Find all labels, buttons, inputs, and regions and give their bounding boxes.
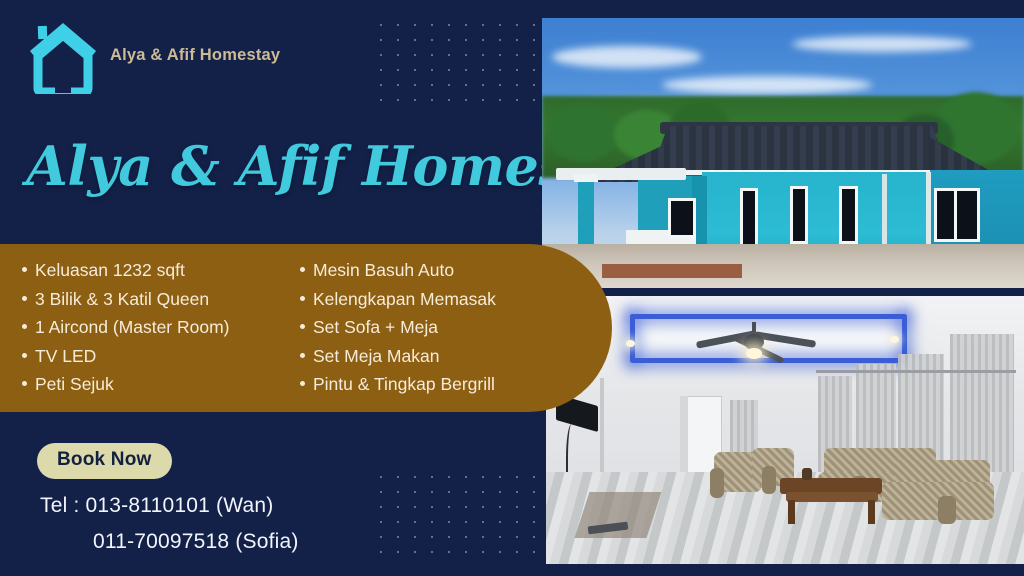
grid-dot bbox=[465, 84, 467, 86]
grid-dot bbox=[431, 536, 433, 538]
armchair-arm bbox=[762, 466, 776, 494]
grid-dot bbox=[414, 54, 416, 56]
grid-dot bbox=[431, 54, 433, 56]
coffee-table-apron bbox=[786, 492, 878, 502]
grid-dot bbox=[516, 24, 518, 26]
grid-dot bbox=[465, 491, 467, 493]
grid-dot bbox=[499, 506, 501, 508]
brand-logo-text: Alya & Afif Homestay bbox=[110, 46, 280, 65]
grid-dot bbox=[380, 99, 382, 101]
grid-dot bbox=[465, 69, 467, 71]
grid-dot bbox=[465, 521, 467, 523]
grid-dot bbox=[414, 99, 416, 101]
grid-dot bbox=[397, 491, 399, 493]
bullet-icon bbox=[22, 381, 27, 386]
grid-dot bbox=[414, 84, 416, 86]
grid-dot bbox=[414, 39, 416, 41]
roof-main bbox=[650, 126, 950, 174]
bullet-icon bbox=[22, 324, 27, 329]
feature-label: Pintu & Tingkap Bergrill bbox=[313, 370, 495, 399]
contact-phone-wan[interactable]: Tel : 013-8110101 (Wan) bbox=[40, 494, 273, 518]
grid-dot bbox=[414, 24, 416, 26]
grid-dot bbox=[414, 521, 416, 523]
grid-dot bbox=[533, 521, 535, 523]
grid-dot bbox=[465, 506, 467, 508]
grid-dot bbox=[431, 551, 433, 553]
grid-dot bbox=[448, 506, 450, 508]
grid-dot bbox=[448, 491, 450, 493]
grid-dot bbox=[431, 99, 433, 101]
grid-dot bbox=[482, 521, 484, 523]
grid-dot bbox=[516, 39, 518, 41]
grid-dot bbox=[414, 536, 416, 538]
house-with-a-icon bbox=[26, 16, 100, 94]
grid-dot bbox=[482, 84, 484, 86]
grid-dot bbox=[414, 551, 416, 553]
brand-logo: Alya & Afif Homestay bbox=[26, 16, 280, 94]
feature-item: TV LED bbox=[22, 342, 300, 371]
features-band: Keluasan 1232 sqft 3 Bilik & 3 Katil Que… bbox=[0, 244, 612, 412]
sofa-arm bbox=[938, 496, 956, 524]
grid-dot bbox=[431, 491, 433, 493]
grid-dot bbox=[499, 54, 501, 56]
grid-dot bbox=[533, 69, 535, 71]
grid-dot bbox=[380, 536, 382, 538]
grid-dot bbox=[380, 84, 382, 86]
grid-dot bbox=[533, 551, 535, 553]
exterior-house-photo bbox=[542, 18, 1024, 288]
cloud bbox=[792, 36, 972, 52]
grid-dot bbox=[465, 551, 467, 553]
grid-dot bbox=[448, 521, 450, 523]
window bbox=[934, 188, 980, 242]
grid-dot bbox=[380, 54, 382, 56]
grid-dot bbox=[431, 476, 433, 478]
grid-dot bbox=[465, 39, 467, 41]
grid-dot bbox=[380, 491, 382, 493]
brick-edge bbox=[602, 264, 742, 278]
grid-dot bbox=[397, 521, 399, 523]
tree bbox=[548, 104, 618, 162]
grid-dot bbox=[482, 476, 484, 478]
grid-dot bbox=[397, 24, 399, 26]
armchair-arm bbox=[710, 468, 724, 498]
grid-dot bbox=[482, 39, 484, 41]
grid-dot bbox=[431, 24, 433, 26]
feature-item: Keluasan 1232 sqft bbox=[22, 256, 300, 285]
bullet-icon bbox=[22, 296, 27, 301]
grid-dot bbox=[397, 551, 399, 553]
feature-item: Pintu & Tingkap Bergrill bbox=[300, 370, 570, 399]
grid-dot bbox=[397, 99, 399, 101]
feature-item: Set Meja Makan bbox=[300, 342, 570, 371]
grid-dot bbox=[499, 551, 501, 553]
grid-dot bbox=[533, 39, 535, 41]
bullet-icon bbox=[300, 296, 305, 301]
grid-dot bbox=[380, 69, 382, 71]
grid-dot bbox=[397, 476, 399, 478]
grid-dot bbox=[482, 24, 484, 26]
bullet-icon bbox=[300, 267, 305, 272]
grid-dot bbox=[499, 39, 501, 41]
grid-dot bbox=[499, 24, 501, 26]
feature-label: Keluasan 1232 sqft bbox=[35, 256, 185, 285]
grid-dot bbox=[397, 69, 399, 71]
grid-dot bbox=[431, 69, 433, 71]
features-right-column: Mesin Basuh Auto Kelengkapan Memasak Set… bbox=[300, 256, 570, 402]
grid-dot bbox=[516, 84, 518, 86]
feature-item: 3 Bilik & 3 Katil Queen bbox=[22, 285, 300, 314]
grid-dot bbox=[397, 506, 399, 508]
bullet-icon bbox=[300, 324, 305, 329]
cove-light bbox=[630, 358, 906, 363]
window bbox=[790, 186, 808, 244]
feature-label: 1 Aircond (Master Room) bbox=[35, 313, 230, 342]
grid-dot bbox=[431, 84, 433, 86]
grid-dot bbox=[448, 69, 450, 71]
grid-dot bbox=[516, 551, 518, 553]
feature-label: Mesin Basuh Auto bbox=[313, 256, 454, 285]
grid-dot bbox=[533, 506, 535, 508]
book-now-button[interactable]: Book Now bbox=[37, 443, 172, 479]
grid-dot bbox=[431, 521, 433, 523]
feature-item: Kelengkapan Memasak bbox=[300, 285, 570, 314]
grid-dot bbox=[397, 54, 399, 56]
grid-dot bbox=[482, 491, 484, 493]
grid-dot bbox=[397, 84, 399, 86]
contact-phone-sofia[interactable]: 011-70097518 (Sofia) bbox=[93, 530, 299, 554]
feature-label: Kelengkapan Memasak bbox=[313, 285, 496, 314]
grid-dot bbox=[533, 536, 535, 538]
grid-dot bbox=[499, 521, 501, 523]
porch-window bbox=[668, 198, 696, 238]
grid-dot bbox=[465, 99, 467, 101]
table-leg bbox=[788, 500, 795, 524]
grid-dot bbox=[516, 491, 518, 493]
cove-light bbox=[630, 314, 906, 319]
grid-dot bbox=[448, 99, 450, 101]
grid-dot bbox=[380, 551, 382, 553]
grid-dot bbox=[380, 24, 382, 26]
grid-dot bbox=[397, 536, 399, 538]
bullet-icon bbox=[300, 381, 305, 386]
grid-dot bbox=[431, 506, 433, 508]
grid-dot bbox=[465, 24, 467, 26]
grid-dot bbox=[448, 54, 450, 56]
grid-dot bbox=[380, 39, 382, 41]
grid-dot bbox=[516, 521, 518, 523]
dot-grid-decoration-top bbox=[380, 24, 550, 114]
grid-dot bbox=[448, 84, 450, 86]
grid-dot bbox=[499, 84, 501, 86]
feature-item: Peti Sejuk bbox=[22, 370, 300, 399]
table-ornament bbox=[802, 468, 812, 480]
grid-dot bbox=[533, 54, 535, 56]
bullet-icon bbox=[22, 353, 27, 358]
feature-item: Mesin Basuh Auto bbox=[300, 256, 570, 285]
grid-dot bbox=[380, 521, 382, 523]
grid-dot bbox=[448, 39, 450, 41]
feature-label: Set Sofa + Meja bbox=[313, 313, 438, 342]
grid-dot bbox=[516, 536, 518, 538]
grid-dot bbox=[499, 536, 501, 538]
fan-light bbox=[746, 348, 762, 359]
grid-dot bbox=[397, 39, 399, 41]
grid-dot bbox=[414, 69, 416, 71]
cove-light bbox=[630, 314, 635, 362]
grid-dot bbox=[516, 69, 518, 71]
grid-dot bbox=[482, 506, 484, 508]
grid-dot bbox=[448, 476, 450, 478]
grid-dot bbox=[516, 99, 518, 101]
bullet-icon bbox=[300, 353, 305, 358]
grid-dot bbox=[431, 39, 433, 41]
grid-dot bbox=[499, 69, 501, 71]
grid-dot bbox=[516, 54, 518, 56]
feature-label: 3 Bilik & 3 Katil Queen bbox=[35, 285, 209, 314]
grid-dot bbox=[414, 476, 416, 478]
grid-dot bbox=[482, 69, 484, 71]
grid-dot bbox=[533, 84, 535, 86]
grid-dot bbox=[380, 506, 382, 508]
grid-dot bbox=[482, 551, 484, 553]
downlight bbox=[890, 336, 899, 343]
window bbox=[740, 188, 758, 248]
cloud bbox=[552, 46, 702, 68]
cloud bbox=[662, 76, 872, 94]
curtain bbox=[730, 400, 758, 456]
grid-dot bbox=[465, 536, 467, 538]
grid-dot bbox=[533, 491, 535, 493]
feature-label: Peti Sejuk bbox=[35, 370, 114, 399]
grid-dot bbox=[516, 476, 518, 478]
grid-dot bbox=[380, 476, 382, 478]
grid-dot bbox=[482, 99, 484, 101]
grid-dot bbox=[533, 476, 535, 478]
grid-dot bbox=[448, 24, 450, 26]
grid-dot bbox=[499, 491, 501, 493]
grid-dot bbox=[465, 476, 467, 478]
feature-item: Set Sofa + Meja bbox=[300, 313, 570, 342]
grid-dot bbox=[465, 54, 467, 56]
window bbox=[839, 186, 858, 244]
grid-dot bbox=[533, 99, 535, 101]
table-leg bbox=[868, 500, 875, 524]
grid-dot bbox=[482, 536, 484, 538]
grid-dot bbox=[533, 24, 535, 26]
homestay-promo-poster: Alya & Afif Homestay Alya & Afif Homesta… bbox=[0, 0, 1024, 576]
grid-dot bbox=[414, 506, 416, 508]
downlight bbox=[626, 340, 635, 347]
window-mullion bbox=[954, 190, 957, 240]
curtain-rod bbox=[816, 370, 1016, 373]
grid-dot bbox=[516, 506, 518, 508]
grid-dot bbox=[499, 476, 501, 478]
feature-item: 1 Aircond (Master Room) bbox=[22, 313, 300, 342]
feature-label: TV LED bbox=[35, 342, 96, 371]
feature-label: Set Meja Makan bbox=[313, 342, 439, 371]
grid-dot bbox=[499, 99, 501, 101]
features-left-column: Keluasan 1232 sqft 3 Bilik & 3 Katil Que… bbox=[22, 256, 300, 402]
bullet-icon bbox=[22, 267, 27, 272]
grid-dot bbox=[414, 491, 416, 493]
pillar-cap bbox=[574, 174, 598, 182]
dot-grid-decoration-bottom bbox=[380, 476, 550, 566]
living-room-photo bbox=[546, 296, 1024, 564]
grid-dot bbox=[482, 54, 484, 56]
grid-dot bbox=[448, 536, 450, 538]
grid-dot bbox=[448, 551, 450, 553]
